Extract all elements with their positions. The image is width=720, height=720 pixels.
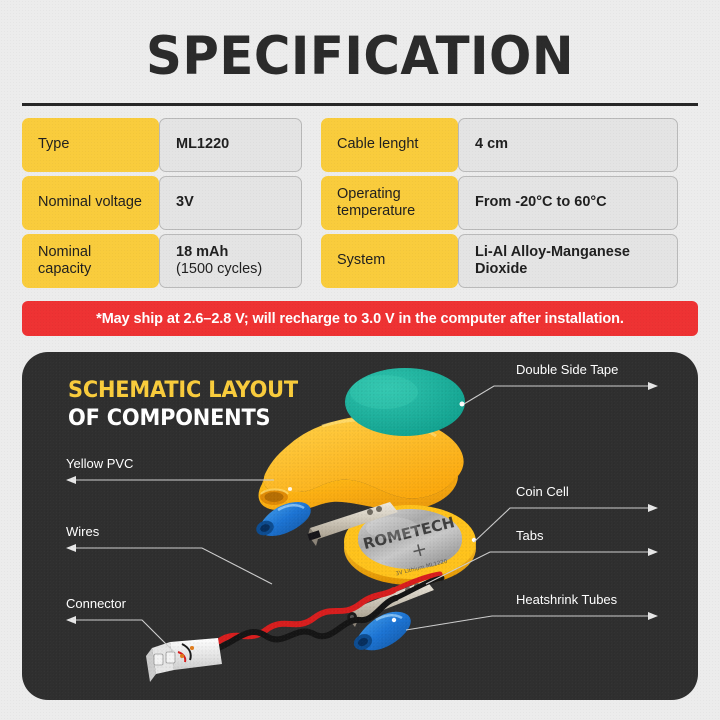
spec-label-line2: capacity bbox=[38, 261, 91, 277]
shipping-voltage-notice: *May ship at 2.6–2.8 V; will recharge to… bbox=[22, 301, 698, 336]
specification-table: Type ML1220 Cable lenght 4 cm Nominal vo… bbox=[22, 118, 698, 288]
callout-label-double-side-tape: Double Side Tape bbox=[516, 362, 618, 377]
spec-value-operating-temperature: From -20°C to 60°C bbox=[458, 176, 678, 230]
leader-connector bbox=[70, 620, 174, 652]
spec-label-text: Type bbox=[38, 136, 69, 153]
title-divider bbox=[22, 103, 698, 106]
schematic-panel: ROMETECH + 3V Lithium ML1220 bbox=[22, 352, 698, 700]
grid-spacer bbox=[302, 118, 321, 172]
spec-label-line1: Operating bbox=[337, 186, 401, 202]
spec-value-cable-length: 4 cm bbox=[458, 118, 678, 172]
spec-value-type: ML1220 bbox=[159, 118, 302, 172]
spec-label-text: System bbox=[337, 252, 385, 269]
callout-label-tabs: Tabs bbox=[516, 528, 543, 543]
spec-value-nominal-capacity: 18 mAh (1500 cycles) bbox=[159, 234, 302, 288]
schematic-heading-line2: OF COMPONENTS bbox=[68, 406, 298, 431]
spec-label-system: System bbox=[321, 234, 458, 288]
spec-label-type: Type bbox=[22, 118, 159, 172]
spec-label-cable-length: Cable lenght bbox=[321, 118, 458, 172]
spec-value-nominal-voltage: 3V bbox=[159, 176, 302, 230]
leader-wires bbox=[70, 548, 272, 584]
leader-coin-cell bbox=[474, 508, 654, 542]
notice-text: *May ship at 2.6–2.8 V; will recharge to… bbox=[96, 311, 624, 327]
page-title: SPECIFICATION bbox=[22, 26, 699, 87]
spec-value-line2: (1500 cycles) bbox=[176, 261, 262, 278]
callout-label-wires: Wires bbox=[66, 524, 99, 539]
leader-tabs bbox=[426, 552, 654, 584]
spec-value-line2: Dioxide bbox=[475, 261, 630, 278]
callout-label-coin-cell: Coin Cell bbox=[516, 484, 569, 499]
spec-label-text: Cable lenght bbox=[337, 136, 418, 153]
spec-value-text: 3V bbox=[176, 194, 194, 211]
spec-label-line1: Nominal bbox=[38, 194, 91, 210]
spec-label-nominal-capacity: Nominal capacity bbox=[22, 234, 159, 288]
grid-spacer bbox=[302, 234, 321, 288]
spec-label-line2: temperature bbox=[337, 203, 415, 219]
spec-label-text: Operating temperature bbox=[337, 186, 442, 220]
schematic-heading: SCHEMATIC LAYOUT OF COMPONENTS bbox=[68, 378, 298, 431]
spec-value-line1: 18 mAh bbox=[176, 244, 262, 261]
grid-spacer bbox=[302, 176, 321, 230]
leader-double-side-tape bbox=[464, 386, 654, 404]
spec-value-text: 4 cm bbox=[475, 136, 508, 153]
callout-label-yellow-pvc: Yellow PVC bbox=[66, 456, 133, 471]
spec-value-line1: Li-Al Alloy-Manganese bbox=[475, 244, 630, 261]
spec-value-text: From -20°C to 60°C bbox=[475, 194, 607, 211]
spec-label-text: Nominal capacity bbox=[38, 244, 143, 278]
spec-label-operating-temperature: Operating temperature bbox=[321, 176, 458, 230]
spec-label-text: Nominal voltage bbox=[38, 194, 142, 211]
spec-value-system: Li-Al Alloy-Manganese Dioxide bbox=[458, 234, 678, 288]
spec-label-line1: Nominal bbox=[38, 244, 91, 260]
spec-label-nominal-voltage: Nominal voltage bbox=[22, 176, 159, 230]
callout-label-heatshrink-tubes: Heatshrink Tubes bbox=[516, 592, 617, 607]
spec-label-line2: voltage bbox=[95, 194, 142, 210]
leader-heatshrink-tubes bbox=[406, 616, 654, 630]
schematic-heading-line1: SCHEMATIC LAYOUT bbox=[68, 378, 298, 403]
callout-label-connector: Connector bbox=[66, 596, 126, 611]
spec-value-text: ML1220 bbox=[176, 136, 229, 153]
spec-value-text: Li-Al Alloy-Manganese Dioxide bbox=[475, 244, 630, 278]
spec-value-text: 18 mAh (1500 cycles) bbox=[176, 244, 262, 278]
